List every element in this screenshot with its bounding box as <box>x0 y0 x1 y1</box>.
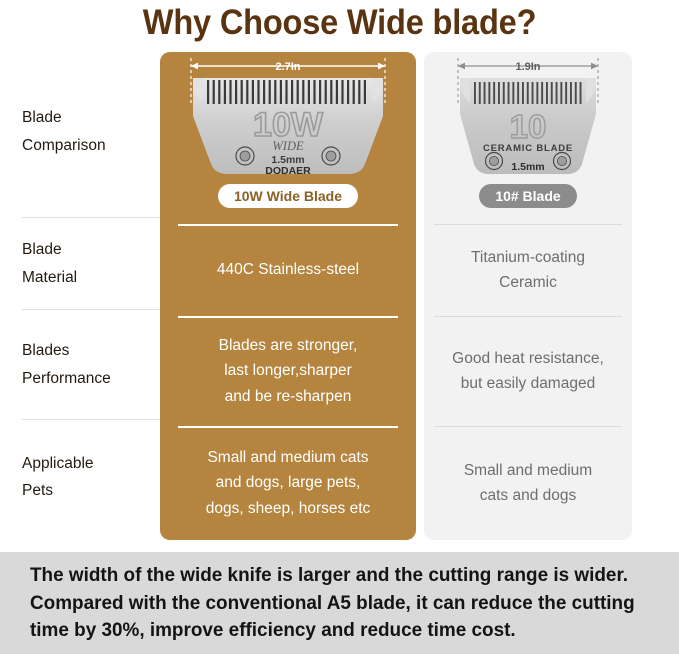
standard-performance-line: but easily damaged <box>451 371 605 396</box>
standard-pets-line: cats and dogs <box>470 483 587 508</box>
standard-blade-illustration: 1.9In <box>442 56 614 184</box>
wide-blade-material-cell: 440C Stainless-steel <box>160 224 416 316</box>
wide-blade-illustration: 2.7In <box>177 56 399 184</box>
wide-blade-performance-cell: Blades are stronger, last longer,sharper… <box>160 316 416 426</box>
row-label-line: Material <box>22 264 77 291</box>
row-label-line: Blade <box>22 104 106 131</box>
wide-performance-line: and be re-sharpen <box>213 384 364 409</box>
footer-line: Compared with the conventional A5 blade,… <box>30 590 638 618</box>
row-label-line: Performance <box>22 365 111 392</box>
wide-blade-dimension-label: 2.7In <box>275 61 300 73</box>
wide-blade-column: 2.7In <box>160 52 416 540</box>
footer-note: The width of the wide knife is larger an… <box>0 552 679 654</box>
standard-blade-dimension-label: 1.9In <box>515 61 540 73</box>
wide-pets-line: dogs, sheep, horses etc <box>194 496 383 521</box>
row-label-blades-performance: Blades Performance <box>22 310 160 420</box>
wide-performance-line: Blades are stronger, <box>207 333 370 358</box>
standard-blade-size-text: 1.5mm <box>511 161 544 173</box>
standard-blade-material-cell: Titanium-coating Ceramic <box>424 224 632 316</box>
row-label-blade-comparison: Blade Comparison <box>22 46 160 218</box>
standard-blade-column: 1.9In <box>424 52 632 540</box>
standard-material-line: Titanium-coating <box>461 245 595 270</box>
row-label-line: Comparison <box>22 132 106 159</box>
standard-blade-badge: 10# Blade <box>479 184 576 208</box>
wide-material-line: 440C Stainless-steel <box>205 257 371 282</box>
wide-pets-line: and dogs, large pets, <box>204 470 373 495</box>
standard-performance-line: Good heat resistance, <box>442 346 614 371</box>
wide-blade-brand-text: DODAER <box>265 165 311 177</box>
standard-blade-pets-cell: Small and medium cats and dogs <box>424 426 632 540</box>
row-label-line: Blade <box>22 236 77 263</box>
footer-line: time by 30%, improve efficiency and redu… <box>30 617 638 645</box>
row-label-column: Blade Comparison Blade Material Blades P… <box>22 46 160 546</box>
standard-blade-performance-cell: Good heat resistance, but easily damaged <box>424 316 632 426</box>
standard-blade-model-text: 10 <box>510 108 547 145</box>
wide-blade-comparison-cell: 2.7In <box>160 52 416 224</box>
wide-blade-wide-mark: WIDE <box>272 139 304 153</box>
footer-line: The width of the wide knife is larger an… <box>30 562 638 590</box>
row-label-line: Applicable <box>22 450 94 477</box>
comparison-table: Blade Comparison Blade Material Blades P… <box>0 46 679 546</box>
row-label-line: Pets <box>22 477 94 504</box>
standard-pets-line: Small and medium <box>454 458 602 483</box>
row-label-line: Blades <box>22 337 111 364</box>
wide-blade-pets-cell: Small and medium cats and dogs, large pe… <box>160 426 416 540</box>
wide-pets-line: Small and medium cats <box>195 445 380 470</box>
row-label-blade-material: Blade Material <box>22 218 160 310</box>
row-label-applicable-pets: Applicable Pets <box>22 420 160 534</box>
header-bar: Why Choose Wide blade? <box>0 0 679 46</box>
wide-blade-badge: 10W Wide Blade <box>218 184 358 208</box>
page-title: Why Choose Wide blade? <box>143 3 536 43</box>
standard-blade-comparison-cell: 1.9In <box>424 52 632 224</box>
standard-material-line: Ceramic <box>489 270 567 295</box>
wide-performance-line: last longer,sharper <box>212 358 364 383</box>
